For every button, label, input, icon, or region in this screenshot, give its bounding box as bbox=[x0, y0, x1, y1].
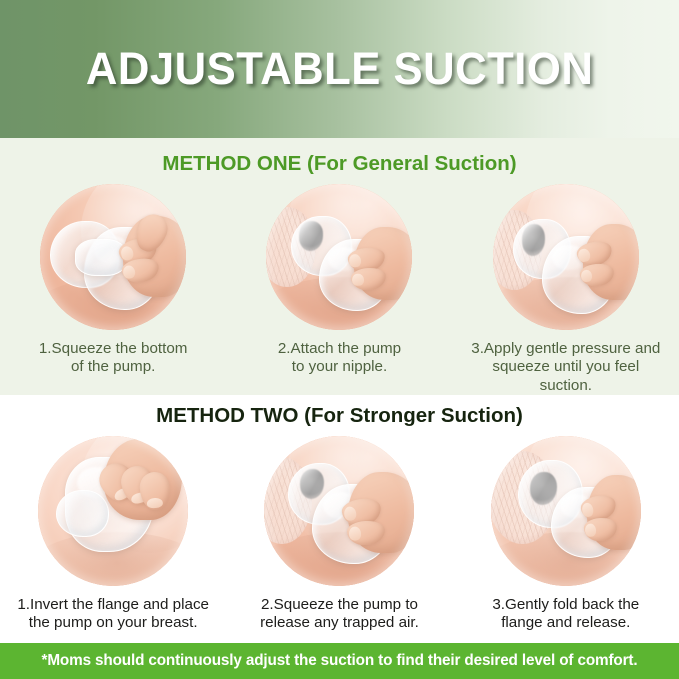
fingernail bbox=[349, 253, 362, 267]
photo-attach-pump-to-nipple bbox=[266, 184, 412, 330]
fingernail bbox=[348, 527, 361, 541]
method-two-heading: METHOD TWO (For Stronger Suction) bbox=[156, 406, 523, 427]
pump-neck bbox=[75, 239, 127, 276]
method-one-step-3-caption: 3.Apply gentle pressure and squeeze unti… bbox=[462, 340, 670, 396]
method-one-step-2-caption: 2.Attach the pump to your nipple. bbox=[235, 340, 443, 377]
method-one-section: METHOD ONE (For General Suction) bbox=[0, 138, 679, 395]
method-one-steps-row: 1.Squeeze the bottom of the pump. bbox=[0, 184, 679, 396]
fingernail bbox=[581, 502, 594, 517]
method-two-step-1: 1.Invert the flange and place the pump o… bbox=[0, 436, 226, 633]
fingernail bbox=[581, 269, 593, 282]
method-one-heading: METHOD ONE (For General Suction) bbox=[162, 154, 516, 175]
photo-squeeze-pump-release-air bbox=[264, 436, 414, 586]
method-two-step-3-caption: 3.Gently fold back the flange and releas… bbox=[462, 596, 670, 633]
method-two-step-2-caption: 2.Squeeze the pump to release any trappe… bbox=[235, 596, 443, 633]
header-banner: ADJUSTABLE SUCTION bbox=[0, 0, 679, 138]
footer-bar: *Moms should continuously adjust the suc… bbox=[0, 643, 679, 679]
page-title: ADJUSTABLE SUCTION bbox=[86, 43, 593, 95]
photo-squeeze-bottom-of-pump bbox=[40, 184, 186, 330]
method-two-section: METHOD TWO (For Stronger Suction) bbox=[0, 395, 679, 643]
photo-invert-flange-and-place bbox=[38, 436, 188, 586]
fingernail bbox=[578, 248, 591, 263]
method-two-steps-row: 1.Invert the flange and place the pump o… bbox=[0, 436, 679, 633]
method-one-step-3: 3.Apply gentle pressure and squeeze unti… bbox=[453, 184, 679, 396]
method-two-step-2: 2.Squeeze the pump to release any trappe… bbox=[226, 436, 452, 633]
method-one-step-2: 2.Attach the pump to your nipple. bbox=[226, 184, 452, 377]
method-two-step-1-caption: 1.Invert the flange and place the pump o… bbox=[9, 596, 217, 633]
fingernail bbox=[123, 265, 136, 280]
fingernail bbox=[352, 273, 364, 286]
method-two-step-3: 3.Gently fold back the flange and releas… bbox=[453, 436, 679, 633]
photo-gently-fold-back-flange bbox=[491, 436, 641, 586]
method-one-step-1-caption: 1.Squeeze the bottom of the pump. bbox=[9, 340, 217, 377]
pump-flange-folded bbox=[56, 490, 109, 537]
footer-note: *Moms should continuously adjust the suc… bbox=[42, 652, 638, 670]
fingernail bbox=[343, 505, 357, 521]
method-one-step-1: 1.Squeeze the bottom of the pump. bbox=[0, 184, 226, 377]
photo-apply-gentle-pressure bbox=[493, 184, 639, 330]
infographic-root: ADJUSTABLE SUCTION METHOD ONE (For Gener… bbox=[0, 0, 679, 679]
fingernail bbox=[585, 523, 596, 536]
fingernail bbox=[147, 497, 163, 509]
